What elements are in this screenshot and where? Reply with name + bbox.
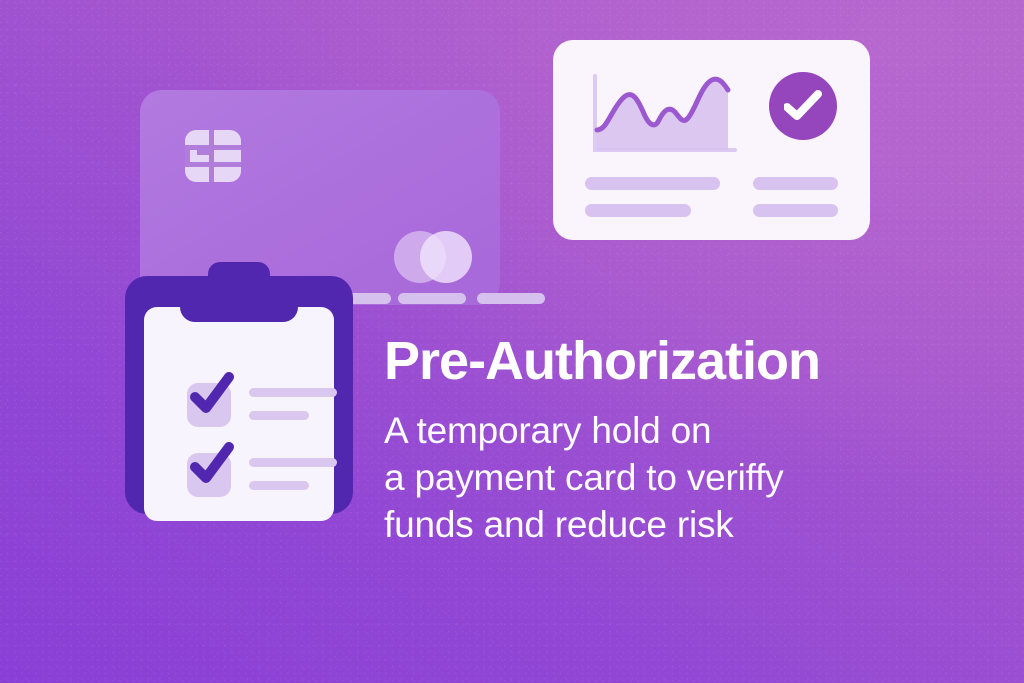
- summary-placeholder-bar: [585, 204, 691, 217]
- network-circle-right: [420, 231, 472, 283]
- chip-line-inner: [197, 150, 211, 155]
- check-circle-icon: [769, 72, 837, 140]
- chip-line-lower: [185, 162, 241, 167]
- chip-line-vertical: [209, 130, 214, 182]
- subtitle-line-2: a payment card to veriffy: [384, 455, 944, 502]
- dual-circle-card-network-icon: [394, 231, 472, 283]
- checklist-text-line: [249, 458, 337, 467]
- area-chart-svg: [585, 68, 740, 158]
- checkmark-glyph: [784, 89, 822, 123]
- transaction-summary-card: [553, 40, 870, 240]
- clipboard-clip-tab: [208, 262, 270, 296]
- checklist-text-line: [249, 481, 309, 490]
- checkmark-icon: [185, 369, 237, 417]
- page-subtitle: A temporary hold on a payment card to ve…: [384, 408, 944, 549]
- headline-block: Pre-Authorization A temporary hold on a …: [384, 333, 944, 549]
- checklist-item: [187, 449, 337, 497]
- subtitle-line-1: A temporary hold on: [384, 408, 944, 455]
- checklist-text-line: [249, 388, 337, 397]
- checklist-item: [187, 379, 337, 427]
- checklist-text-line: [249, 411, 309, 420]
- illustration-canvas: Pre-Authorization A temporary hold on a …: [0, 0, 1024, 683]
- card-number-bar: [398, 293, 466, 304]
- checkmark-icon: [185, 439, 237, 487]
- chip-line-left: [185, 145, 190, 167]
- card-number-bar: [477, 293, 545, 304]
- subtitle-line-3: funds and reduce risk: [384, 502, 944, 549]
- summary-placeholder-bar: [753, 204, 838, 217]
- emv-chip-icon: [185, 130, 241, 182]
- verification-checklist-clipboard: [125, 262, 353, 514]
- page-title: Pre-Authorization: [384, 333, 944, 390]
- summary-placeholder-bar: [585, 177, 720, 190]
- chip-line-upper: [185, 145, 241, 150]
- summary-placeholder-bar: [753, 177, 838, 190]
- clipboard-paper: [144, 307, 334, 521]
- transaction-area-chart: [585, 68, 740, 158]
